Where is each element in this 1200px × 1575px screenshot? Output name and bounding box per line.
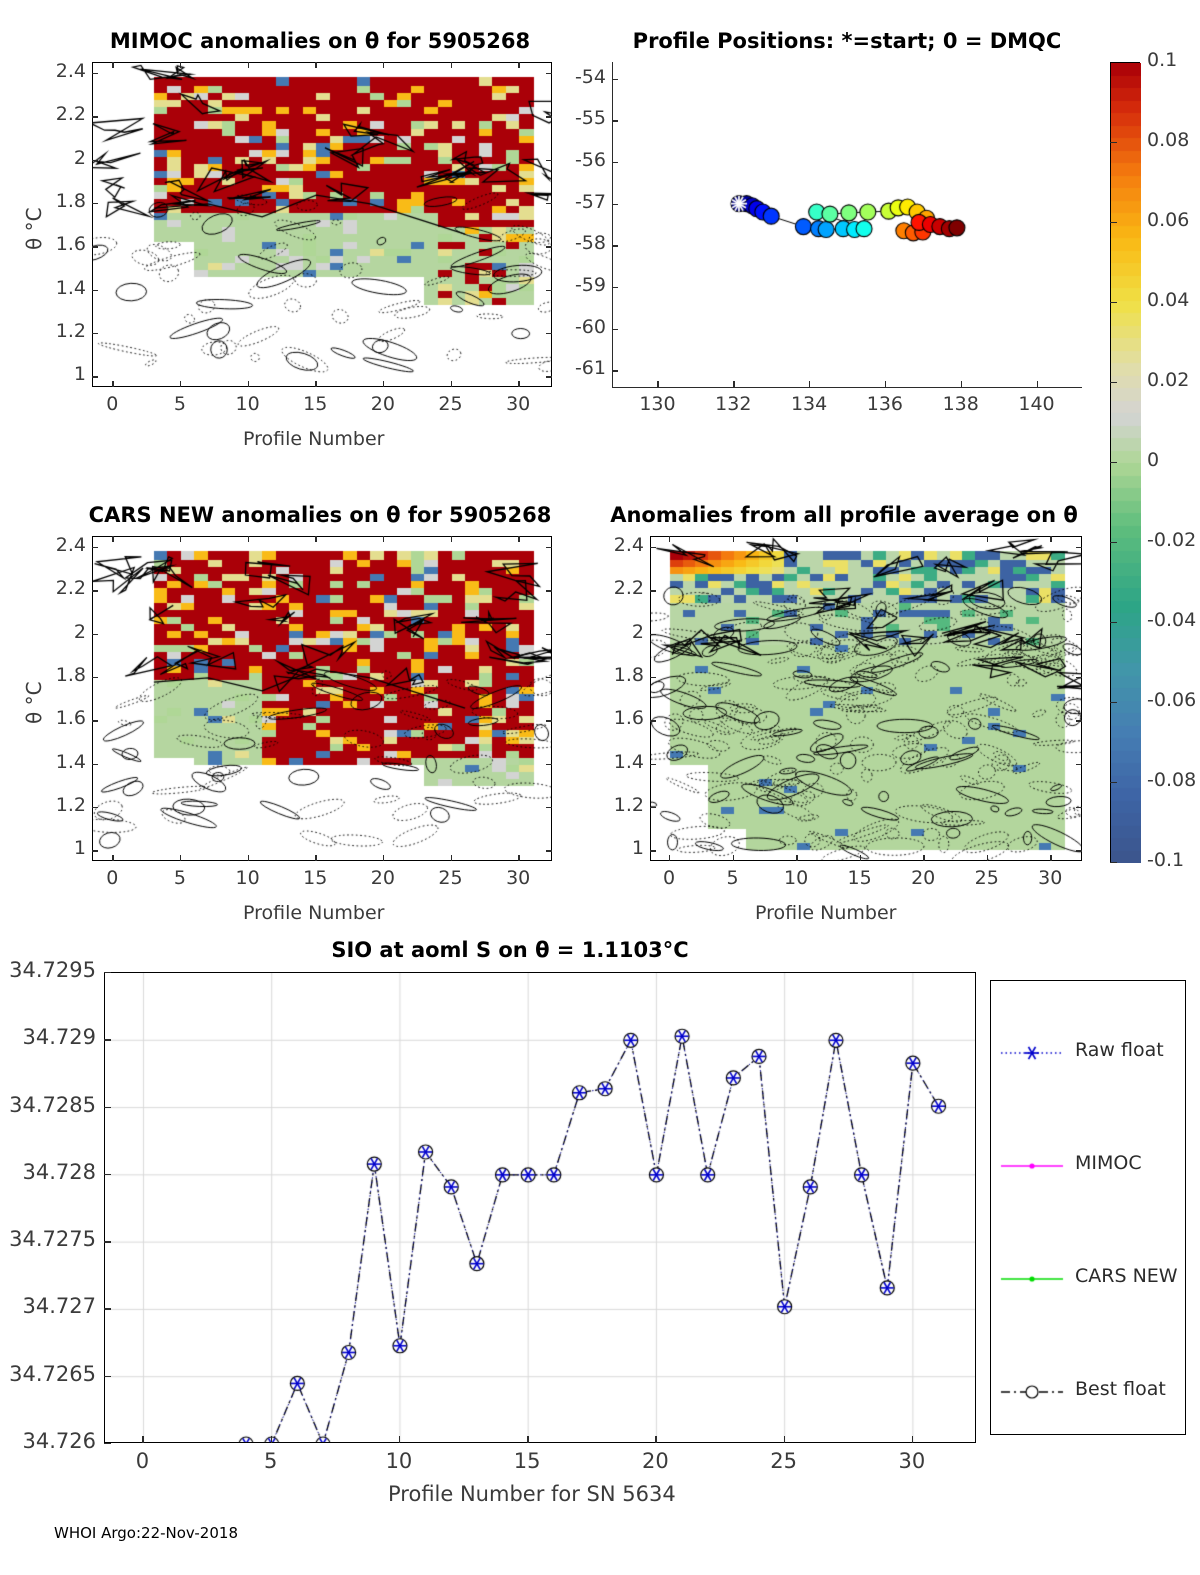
axis-tick (92, 160, 98, 161)
mimoc-xlabel: Profile Number (243, 428, 384, 450)
map-ytick-label: -59 (560, 274, 606, 296)
axis-xtick-label: 15 (297, 393, 333, 415)
timeseries-ytick-label: 34.726 (0, 1429, 96, 1453)
timeseries-xtick-label: 25 (760, 1449, 808, 1473)
axis-tick (657, 381, 658, 387)
axis-tick (1110, 702, 1117, 703)
axis-tick (112, 536, 113, 542)
axis-xtick-label: 5 (162, 393, 198, 415)
timeseries-xtick-label: 5 (247, 1449, 295, 1473)
axis-tick (92, 333, 98, 334)
axis-tick (546, 290, 552, 291)
cars-heatmap-canvas (93, 537, 552, 861)
axis-tick (112, 381, 113, 387)
axis-tick (180, 855, 181, 861)
axis-tick (180, 62, 181, 68)
axis-tick (612, 162, 618, 163)
timeseries-xtick-label: 20 (631, 1449, 679, 1473)
axis-tick (315, 855, 316, 861)
axis-tick (383, 381, 384, 387)
axis-tick (546, 73, 552, 74)
axis-ytick-label: 1.4 (30, 751, 86, 773)
axis-tick (860, 855, 861, 861)
axis-tick (1037, 381, 1038, 387)
axis-tick (451, 855, 452, 861)
axis-tick (92, 720, 98, 721)
axis-tick (1050, 855, 1051, 861)
axis-tick (1050, 536, 1051, 542)
axis-tick (92, 547, 98, 548)
axis-xtick-label: 10 (778, 867, 814, 889)
axis-ytick-label: 1.8 (598, 664, 644, 686)
timeseries-panel-title: SIO at aoml S on θ = 1.1103°C (160, 938, 860, 962)
timeseries-ytick-label: 34.727 (0, 1294, 96, 1318)
mimoc-panel-title: MIMOC anomalies on θ for 5905268 (60, 29, 580, 53)
axis-tick (546, 764, 552, 765)
axis-tick (112, 62, 113, 68)
axis-tick (112, 855, 113, 861)
axis-tick (92, 677, 98, 678)
axis-xtick-label: 5 (162, 867, 198, 889)
axis-tick (733, 381, 734, 387)
axis-tick (315, 536, 316, 542)
axis-tick (92, 764, 98, 765)
axis-tick (92, 73, 98, 74)
axis-ytick-label: 2.2 (30, 577, 86, 599)
axis-xtick-label: 25 (433, 393, 469, 415)
axis-ytick-label: 1.8 (30, 190, 86, 212)
timeseries-ytick-label: 34.7295 (0, 958, 96, 982)
timeseries-xtick-label: 10 (375, 1449, 423, 1473)
axis-ytick-label: 1.4 (30, 277, 86, 299)
axis-tick (650, 634, 656, 635)
axis-tick (650, 547, 656, 548)
axis-tick (104, 1107, 111, 1108)
axis-tick (650, 677, 656, 678)
axis-tick (92, 203, 98, 204)
axis-ytick-label: 1 (30, 363, 86, 385)
map-xtick-label: 130 (633, 393, 681, 415)
axis-tick (612, 287, 618, 288)
timeseries-ytick-label: 34.729 (0, 1025, 96, 1049)
axis-tick (104, 1443, 111, 1444)
axis-tick (784, 1436, 785, 1443)
axis-tick (383, 62, 384, 68)
axis-tick (612, 204, 618, 205)
axis-ytick-label: 1.6 (30, 707, 86, 729)
axis-ytick-label: 1.2 (598, 794, 644, 816)
axis-tick (248, 62, 249, 68)
mimoc-heatmap-canvas (93, 63, 552, 387)
axis-tick (1110, 462, 1117, 463)
axis-ytick-label: 2.4 (30, 60, 86, 82)
axis-tick (315, 62, 316, 68)
axis-tick (612, 387, 1082, 388)
timeseries-xlabel: Profile Number for SN 5634 (388, 1482, 676, 1506)
timeseries-ytick-label: 34.728 (0, 1160, 96, 1184)
axis-xtick-label: 0 (94, 393, 130, 415)
timeseries-ytick-label: 34.7275 (0, 1227, 96, 1251)
axis-tick (546, 677, 552, 678)
colorbar-tick-label: 0.02 (1147, 369, 1200, 391)
timeseries-ytick-label: 34.7265 (0, 1362, 96, 1386)
colorbar-tick-label: -0.08 (1147, 769, 1200, 791)
axis-tick (650, 590, 656, 591)
axis-tick (612, 79, 618, 80)
axis-xtick-label: 20 (365, 393, 401, 415)
axis-tick (92, 290, 98, 291)
axis-xtick-label: 30 (1032, 867, 1068, 889)
map-ytick-label: -61 (560, 357, 606, 379)
axis-ytick-label: 1.2 (30, 794, 86, 816)
axis-tick (733, 855, 734, 861)
axis-tick (104, 1241, 111, 1242)
axis-tick (650, 850, 656, 851)
axis-tick (612, 62, 613, 387)
axis-tick (518, 536, 519, 542)
axis-tick (546, 333, 552, 334)
axis-tick (1110, 382, 1117, 383)
axis-tick (1110, 222, 1117, 223)
map-xtick-label: 138 (937, 393, 985, 415)
cars-xlabel: Profile Number (243, 902, 384, 924)
colorbar-tick-label: 0.06 (1147, 209, 1200, 231)
colorbar-tick-label: 0.1 (1147, 49, 1200, 71)
axis-tick (1110, 782, 1117, 783)
map-xtick-label: 132 (709, 393, 757, 415)
axis-xtick-label: 20 (905, 867, 941, 889)
axis-tick (92, 376, 98, 377)
map-ytick-label: -60 (560, 316, 606, 338)
axis-tick (399, 1436, 400, 1443)
timeseries-canvas (105, 973, 976, 1443)
axis-tick (923, 855, 924, 861)
colorbar-tick-label: 0.08 (1147, 129, 1200, 151)
axis-tick (546, 634, 552, 635)
axis-tick (1076, 764, 1082, 765)
axis-tick (809, 381, 810, 387)
axis-tick (1110, 622, 1117, 623)
axis-tick (104, 972, 111, 973)
axis-tick (546, 547, 552, 548)
axis-tick (1076, 720, 1082, 721)
figure-footer: WHOI Argo:22-Nov-2018 (54, 1524, 238, 1542)
axis-tick (546, 720, 552, 721)
axis-tick (546, 807, 552, 808)
axis-tick (1076, 807, 1082, 808)
axis-tick (987, 855, 988, 861)
axis-tick (655, 1436, 656, 1443)
timeseries-xtick-label: 30 (888, 1449, 936, 1473)
colorbar-tick-label: 0.04 (1147, 289, 1200, 311)
axis-tick (733, 536, 734, 542)
cars-panel-title: CARS NEW anomalies on θ for 5905268 (60, 503, 580, 527)
legend-item-label-best-float: Best float (1075, 1378, 1166, 1400)
map-ytick-label: -54 (560, 66, 606, 88)
colorbar-tick-label: -0.02 (1147, 529, 1200, 551)
axis-xtick-label: 25 (433, 867, 469, 889)
axis-tick (180, 381, 181, 387)
map-ytick-label: -55 (560, 107, 606, 129)
axis-xtick-label: 15 (297, 867, 333, 889)
axis-tick (1076, 677, 1082, 678)
cars-plot-area (92, 536, 552, 861)
axis-tick (383, 855, 384, 861)
axis-tick (923, 536, 924, 542)
axis-tick (142, 1436, 143, 1443)
axis-ytick-label: 2.2 (598, 577, 644, 599)
map-ytick-label: -57 (560, 191, 606, 213)
axis-tick (885, 381, 886, 387)
axis-tick (961, 381, 962, 387)
axis-tick (92, 634, 98, 635)
axis-tick (546, 160, 552, 161)
axis-tick (180, 536, 181, 542)
axis-tick (92, 807, 98, 808)
axis-ytick-label: 1.8 (30, 664, 86, 686)
axis-tick (546, 376, 552, 377)
axis-tick (612, 245, 618, 246)
axis-tick (518, 62, 519, 68)
axis-tick (796, 855, 797, 861)
axis-tick (1110, 542, 1117, 543)
axis-tick (546, 116, 552, 117)
axis-tick (546, 850, 552, 851)
axis-ytick-label: 1.4 (598, 751, 644, 773)
axis-tick (92, 590, 98, 591)
map-xtick-label: 136 (861, 393, 909, 415)
mimoc-plot-area (92, 62, 552, 387)
axis-tick (860, 536, 861, 542)
axis-tick (987, 536, 988, 542)
axis-tick (527, 1436, 528, 1443)
timeseries-xtick-label: 15 (503, 1449, 551, 1473)
axis-ytick-label: 1.2 (30, 320, 86, 342)
timeseries-plot-area (104, 972, 976, 1443)
positions-panel-title: Profile Positions: *=start; 0 = DMQC (602, 29, 1092, 53)
axis-tick (104, 1308, 111, 1309)
axis-tick (669, 536, 670, 542)
map-xtick-label: 140 (1013, 393, 1061, 415)
axis-tick (912, 1436, 913, 1443)
axis-tick (92, 850, 98, 851)
axis-tick (1076, 547, 1082, 548)
axis-tick (451, 536, 452, 542)
axis-tick (1110, 862, 1117, 863)
axis-tick (650, 764, 656, 765)
axis-tick (104, 1174, 111, 1175)
average-heatmap-canvas (651, 537, 1082, 861)
timeseries-xtick-label: 0 (118, 1449, 166, 1473)
axis-xtick-label: 5 (715, 867, 751, 889)
axis-ytick-label: 1.6 (598, 707, 644, 729)
axis-xtick-label: 10 (230, 867, 266, 889)
axis-tick (669, 855, 670, 861)
axis-tick (612, 329, 618, 330)
axis-ytick-label: 2.4 (30, 534, 86, 556)
axis-tick (650, 807, 656, 808)
axis-ytick-label: 2 (598, 621, 644, 643)
axis-tick (451, 381, 452, 387)
map-xtick-label: 134 (785, 393, 833, 415)
axis-ytick-label: 1 (598, 837, 644, 859)
axis-ytick-label: 2.4 (598, 534, 644, 556)
average-panel-title: Anomalies from all profile average on θ (594, 503, 1094, 527)
axis-tick (1110, 302, 1117, 303)
axis-ytick-label: 2 (30, 621, 86, 643)
axis-tick (248, 381, 249, 387)
axis-tick (104, 1376, 111, 1377)
axis-tick (1076, 590, 1082, 591)
axis-tick (248, 855, 249, 861)
average-plot-area (650, 536, 1082, 861)
axis-tick (650, 720, 656, 721)
axis-xtick-label: 15 (842, 867, 878, 889)
axis-tick (92, 116, 98, 117)
axis-tick (518, 855, 519, 861)
profile-positions-canvas (612, 62, 1082, 387)
axis-xtick-label: 0 (94, 867, 130, 889)
axis-xtick-label: 10 (230, 393, 266, 415)
axis-tick (104, 1039, 111, 1040)
colorbar-tick-label: 0 (1147, 449, 1200, 471)
axis-tick (1076, 634, 1082, 635)
axis-tick (546, 203, 552, 204)
axis-tick (1110, 142, 1117, 143)
map-ytick-label: -56 (560, 149, 606, 171)
axis-tick (518, 381, 519, 387)
axis-ytick-label: 2 (30, 147, 86, 169)
positions-plot-area (612, 62, 1082, 387)
axis-xtick-label: 0 (651, 867, 687, 889)
axis-tick (92, 246, 98, 247)
axis-tick (546, 590, 552, 591)
legend-item-label-raw-float: Raw float (1075, 1039, 1164, 1061)
legend-item-label-mimoc: MIMOC (1075, 1152, 1142, 1174)
axis-tick (315, 381, 316, 387)
axis-xtick-label: 20 (365, 867, 401, 889)
map-ytick-label: -58 (560, 232, 606, 254)
axis-tick (271, 1436, 272, 1443)
axis-tick (451, 62, 452, 68)
axis-tick (383, 536, 384, 542)
colorbar-tick-label: -0.1 (1147, 849, 1200, 871)
colorbar-tick-label: -0.04 (1147, 609, 1200, 631)
axis-tick (1076, 850, 1082, 851)
axis-tick (612, 120, 618, 121)
colorbar-tick-label: -0.06 (1147, 689, 1200, 711)
axis-tick (248, 536, 249, 542)
axis-xtick-label: 30 (500, 867, 536, 889)
axis-xtick-label: 30 (500, 393, 536, 415)
axis-ytick-label: 2.2 (30, 103, 86, 125)
axis-ytick-label: 1 (30, 837, 86, 859)
axis-xtick-label: 25 (969, 867, 1005, 889)
timeseries-ytick-label: 34.7285 (0, 1093, 96, 1117)
average-xlabel: Profile Number (755, 902, 896, 924)
axis-ytick-label: 1.6 (30, 233, 86, 255)
legend-item-label-cars-new: CARS NEW (1075, 1265, 1178, 1287)
axis-tick (546, 246, 552, 247)
axis-tick (796, 536, 797, 542)
axis-tick (612, 370, 618, 371)
